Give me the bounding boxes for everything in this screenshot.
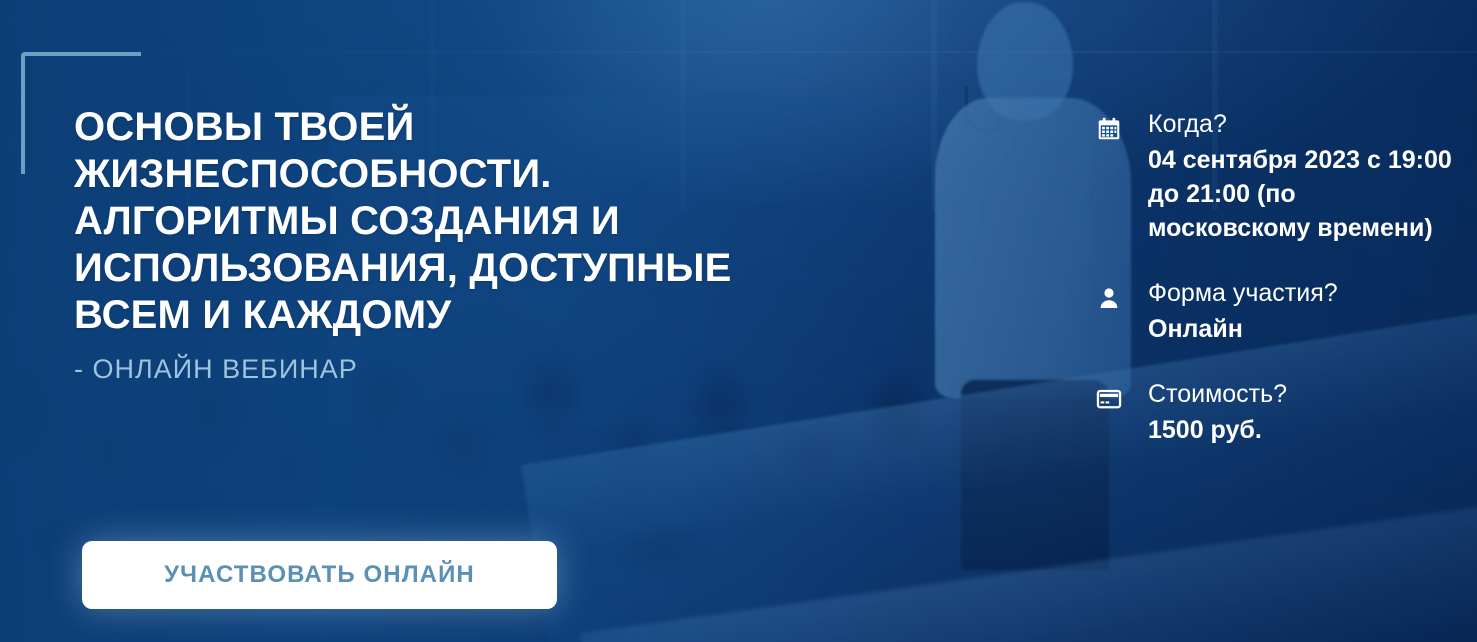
detail-label-when: Когда? — [1148, 108, 1462, 141]
page-title: ОСНОВЫ ТВОЕЙ ЖИЗНЕСПОСОБНОСТИ. АЛГОРИТМЫ… — [74, 104, 794, 339]
credit-card-icon — [1092, 382, 1126, 416]
user-icon — [1092, 281, 1126, 315]
detail-item-price: Стоимость? 1500 руб. — [1092, 378, 1462, 447]
hero-subtitle: - ОНЛАЙН ВЕБИНАР — [74, 353, 794, 385]
detail-text-when: Когда? 04 сентября 2023 с 19:00 до 21:00… — [1148, 108, 1462, 245]
detail-value-price: 1500 руб. — [1148, 413, 1287, 447]
detail-item-format: Форма участия? Онлайн — [1092, 277, 1462, 346]
webinar-hero-banner: ОСНОВЫ ТВОЕЙ ЖИЗНЕСПОСОБНОСТИ. АЛГОРИТМЫ… — [0, 0, 1477, 642]
event-details-panel: Когда? 04 сентября 2023 с 19:00 до 21:00… — [1092, 108, 1462, 447]
hero-text-column: ОСНОВЫ ТВОЕЙ ЖИЗНЕСПОСОБНОСТИ. АЛГОРИТМЫ… — [74, 104, 794, 385]
detail-label-format: Форма участия? — [1148, 277, 1338, 310]
detail-value-when: 04 сентября 2023 с 19:00 до 21:00 (по мо… — [1148, 143, 1462, 245]
detail-text-format: Форма участия? Онлайн — [1148, 277, 1338, 346]
detail-item-when: Когда? 04 сентября 2023 с 19:00 до 21:00… — [1092, 108, 1462, 245]
calendar-icon — [1092, 112, 1126, 146]
detail-value-format: Онлайн — [1148, 312, 1338, 346]
participate-online-button[interactable]: УЧАСТВОВАТЬ ОНЛАЙН — [82, 541, 557, 609]
detail-label-price: Стоимость? — [1148, 378, 1287, 411]
detail-text-price: Стоимость? 1500 руб. — [1148, 378, 1287, 447]
